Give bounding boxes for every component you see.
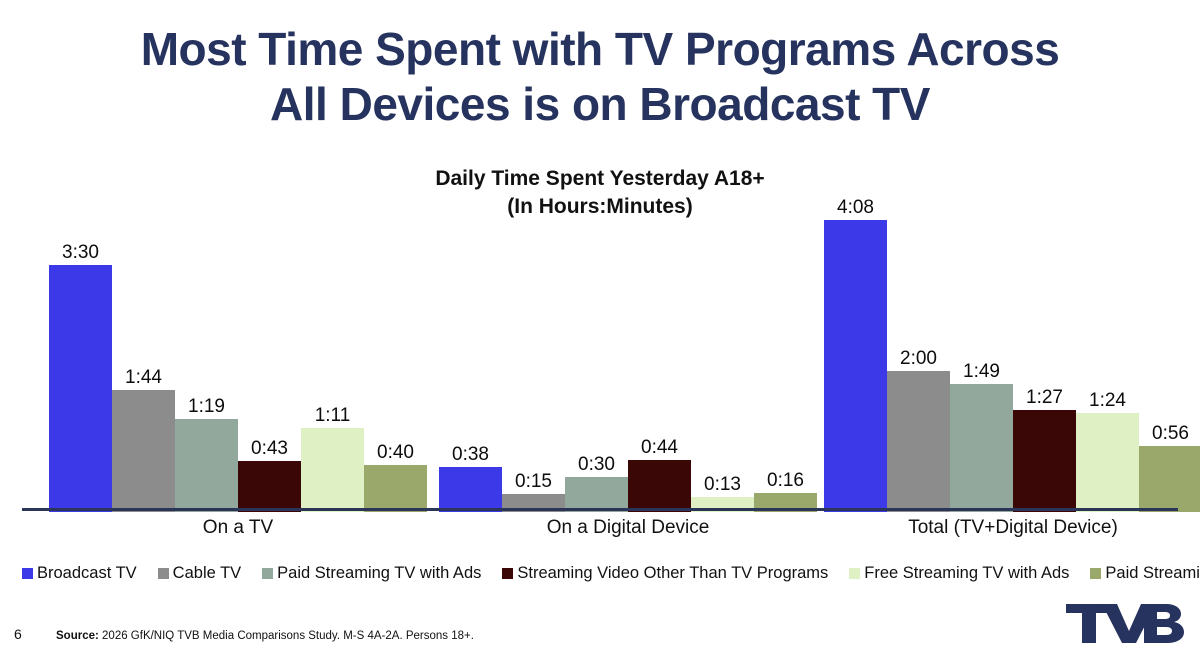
bar-value-label: 0:40 [377, 443, 414, 463]
legend-label: Paid Streaming TV No Ads [1105, 564, 1200, 583]
bar[interactable] [112, 390, 175, 512]
bar-column: 0:13 [691, 186, 754, 512]
legend-label: Broadcast TV [37, 564, 137, 583]
legend-swatch-icon [1090, 568, 1101, 579]
bar-column: 0:30 [565, 186, 628, 512]
category-label: Total (TV+Digital Device) [824, 517, 1200, 539]
bar-column: 0:15 [502, 186, 565, 512]
bar-value-label: 0:44 [641, 438, 678, 458]
title-line-1: Most Time Spent with TV Programs Across [0, 22, 1200, 77]
bar[interactable] [439, 467, 502, 512]
bar[interactable] [1076, 413, 1139, 512]
legend-item[interactable]: Free Streaming TV with Ads [849, 564, 1069, 583]
bar-value-label: 1:24 [1089, 391, 1126, 411]
source-note: Source: 2026 GfK/NIQ TVB Media Compariso… [56, 630, 474, 642]
slide: Most Time Spent with TV Programs Across … [0, 0, 1200, 652]
bar[interactable] [364, 465, 427, 512]
bar[interactable] [887, 371, 950, 512]
source-text: 2026 GfK/NIQ TVB Media Comparisons Study… [99, 630, 474, 642]
bar-column: 1:19 [175, 186, 238, 512]
legend-item[interactable]: Cable TV [158, 564, 241, 583]
bar-value-label: 3:30 [62, 243, 99, 263]
chart-baseline-axis [22, 508, 1178, 511]
legend-item[interactable]: Streaming Video Other Than TV Programs [502, 564, 828, 583]
bar-value-label: 0:56 [1152, 424, 1189, 444]
legend-label: Streaming Video Other Than TV Programs [517, 564, 828, 583]
bar-value-label: 0:13 [704, 475, 741, 495]
bar-column: 1:49 [950, 186, 1013, 512]
bar[interactable] [565, 477, 628, 512]
bar-value-label: 1:49 [963, 362, 1000, 382]
category-label: On a Digital Device [439, 517, 817, 539]
bar-column: 3:30 [49, 186, 112, 512]
source-label: Source: [56, 630, 99, 642]
legend-item[interactable]: Paid Streaming TV with Ads [262, 564, 481, 583]
bar[interactable] [950, 384, 1013, 512]
bar[interactable] [628, 460, 691, 512]
bar-column: 1:27 [1013, 186, 1076, 512]
bar-column: 4:08 [824, 186, 887, 512]
bar-value-label: 1:19 [188, 397, 225, 417]
bar-value-label: 2:00 [900, 349, 937, 369]
page-number: 6 [14, 626, 22, 642]
bar-value-label: 1:11 [315, 406, 351, 426]
bar[interactable] [1139, 446, 1200, 512]
legend-label: Free Streaming TV with Ads [864, 564, 1069, 583]
legend-swatch-icon [849, 568, 860, 579]
bar-group: 3:301:441:190:431:110:40 [49, 186, 427, 512]
bar[interactable] [49, 265, 112, 512]
tvb-logo [1058, 596, 1188, 646]
bar-group: 4:082:001:491:271:240:56 [824, 186, 1200, 512]
bar-column: 0:44 [628, 186, 691, 512]
legend-item[interactable]: Broadcast TV [22, 564, 137, 583]
legend-swatch-icon [158, 568, 169, 579]
chart-legend: Broadcast TVCable TVPaid Streaming TV wi… [22, 564, 1192, 583]
bar-value-label: 0:30 [578, 455, 615, 475]
bar-value-label: 4:08 [837, 198, 874, 218]
bar-column: 1:44 [112, 186, 175, 512]
page-title: Most Time Spent with TV Programs Across … [0, 22, 1200, 132]
bar[interactable] [175, 419, 238, 512]
legend-label: Paid Streaming TV with Ads [277, 564, 481, 583]
bar-column: 1:24 [1076, 186, 1139, 512]
category-label: On a TV [49, 517, 427, 539]
bar-chart-plot-area: 3:301:441:190:431:110:400:380:150:300:44… [22, 186, 1178, 512]
category-axis-labels: On a TVOn a Digital DeviceTotal (TV+Digi… [22, 517, 1178, 547]
bar-value-label: 0:16 [767, 471, 804, 491]
bar[interactable] [824, 220, 887, 512]
bar-value-label: 0:43 [251, 439, 288, 459]
legend-swatch-icon [502, 568, 513, 579]
bar-value-label: 0:38 [452, 445, 489, 465]
bar-value-label: 0:15 [515, 472, 552, 492]
bar-column: 0:38 [439, 186, 502, 512]
bar-value-label: 1:44 [125, 368, 162, 388]
bar-column: 0:56 [1139, 186, 1200, 512]
bar[interactable] [238, 461, 301, 512]
bar-column: 0:40 [364, 186, 427, 512]
bar-column: 1:11 [301, 186, 364, 512]
legend-swatch-icon [262, 568, 273, 579]
bar-value-label: 1:27 [1026, 388, 1063, 408]
bar-column: 0:16 [754, 186, 817, 512]
bar-group: 0:380:150:300:440:130:16 [439, 186, 817, 512]
legend-swatch-icon [22, 568, 33, 579]
bar[interactable] [301, 428, 364, 512]
bar-column: 0:43 [238, 186, 301, 512]
title-line-2: All Devices is on Broadcast TV [0, 77, 1200, 132]
bar[interactable] [1013, 410, 1076, 512]
bar-column: 2:00 [887, 186, 950, 512]
legend-item[interactable]: Paid Streaming TV No Ads [1090, 564, 1200, 583]
legend-label: Cable TV [173, 564, 241, 583]
